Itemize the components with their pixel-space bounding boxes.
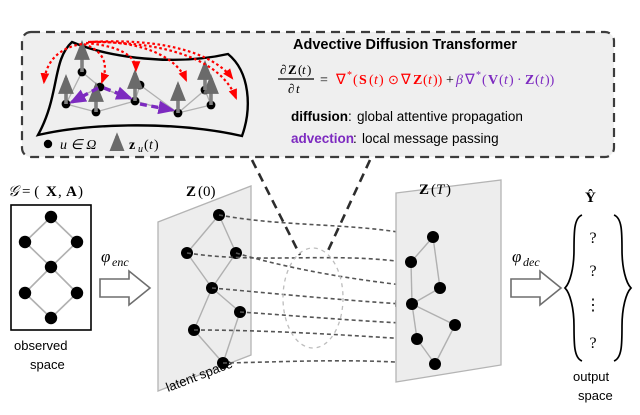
legend-advection-term: advection — [291, 131, 354, 146]
equation-advection-star: * — [476, 70, 481, 81]
legend-advection-sep: : — [353, 131, 357, 146]
output-space-caption-1: output — [573, 369, 610, 384]
encoder-phi: φ — [101, 247, 110, 266]
equation-diffusion-S-close: ) — [379, 73, 384, 88]
equation-lhs-numerator: ∂ — [280, 62, 286, 77]
observed-space-panel: 𝒢 = ( X , A ) — [8, 184, 91, 372]
equation-advection-open: ( — [482, 73, 487, 88]
equation-advection-V-close: ) — [509, 73, 514, 88]
equation-advection-V: V — [488, 73, 498, 88]
legend-diffusion-term: diffusion — [291, 109, 348, 124]
equation-diffusion-star: * — [347, 70, 352, 81]
figure-canvas: u ∈ Ω z u ( t ) Advective Diffusion Tran… — [0, 0, 640, 415]
input-graph-A: A — [66, 184, 77, 200]
legend-node-label: u ∈ Ω — [60, 138, 96, 153]
block-arrow-right-icon — [100, 271, 150, 305]
equation-diffusion-Z: Z — [413, 73, 422, 88]
equation-beta: β — [455, 73, 463, 88]
equation-dot-icon: · — [517, 73, 522, 88]
equation-plus: + — [446, 73, 454, 88]
output-label: Ŷ — [585, 189, 596, 206]
figure-svg: u ∈ Ω z u ( t ) Advective Diffusion Tran… — [0, 0, 640, 415]
input-graph-label: 𝒢 — [8, 184, 21, 200]
output-entry-ellipsis: ⋮ — [585, 297, 601, 314]
equation-advection-Z: Z — [525, 73, 534, 88]
equation-lhs-den-partial: ∂ — [288, 81, 294, 96]
latent-end-panel: Z ( T ) — [396, 180, 501, 382]
input-graph-X: X — [46, 184, 57, 200]
input-graph-comma: , — [58, 184, 62, 200]
output-brace-left — [565, 215, 582, 361]
concept-box-connector — [252, 160, 370, 255]
legend-advection-desc: local message passing — [362, 131, 499, 146]
legend-feature-close: ) — [154, 138, 159, 153]
equation-diffusion-S: S — [359, 73, 367, 88]
concept-box-title: Advective Diffusion Transformer — [293, 37, 517, 53]
decoder-stage[interactable]: φ dec — [511, 247, 561, 305]
encoder-stage[interactable]: φ enc — [100, 247, 150, 305]
output-space-panel: Ŷ ? ? ⋮ ? output space — [565, 189, 631, 403]
latent-start-plane — [158, 186, 251, 391]
filled-dot-icon — [44, 140, 52, 148]
latent-end-label-close: ) — [446, 182, 451, 198]
input-graph-equals: = ( — [22, 184, 39, 200]
equation-diffusion-open: ( — [353, 73, 358, 88]
equation-lhs-Z: Z — [288, 62, 297, 77]
latent-start-label-Z: Z — [186, 184, 196, 200]
equation-lhs-close: ) — [307, 62, 311, 77]
legend-feature-sub: u — [138, 144, 143, 155]
equation-diffusion-term: ∇ — [335, 72, 347, 88]
equation-hadamard-icon: ⊙ — [388, 72, 399, 87]
legend-diffusion-desc: global attentive propagation — [357, 109, 523, 124]
encoder-subscript: enc — [112, 255, 129, 269]
observed-space-caption-2: space — [30, 357, 65, 372]
equation-lhs-t: t — [302, 62, 306, 77]
observed-space-caption-1: observed — [14, 338, 67, 353]
equation-diffusion-Z-close: )) — [433, 73, 443, 88]
equation-advection-Z-close: )) — [545, 73, 555, 88]
output-entry-2: ? — [589, 263, 596, 280]
equation-lhs-den-t: t — [296, 81, 300, 96]
equation-advection-grad: ∇ — [464, 72, 476, 88]
equation-equals: = — [320, 73, 328, 88]
latent-end-label-Z: Z — [419, 182, 429, 198]
legend-feature-label: z — [129, 138, 135, 153]
input-graph-close: ) — [78, 184, 83, 200]
equation-diffusion-grad2: ∇ — [400, 72, 412, 88]
block-arrow-right-icon-decoder — [511, 271, 561, 305]
output-entry-1: ? — [589, 230, 596, 247]
latent-start-label-arg: (0) — [198, 184, 216, 200]
decoder-subscript: dec — [523, 255, 540, 269]
legend-diffusion-sep: : — [348, 109, 352, 124]
output-entry-4: ? — [589, 335, 596, 352]
decoder-phi: φ — [512, 247, 521, 266]
output-space-caption-2: space — [578, 388, 613, 403]
output-brace-right — [614, 215, 631, 361]
